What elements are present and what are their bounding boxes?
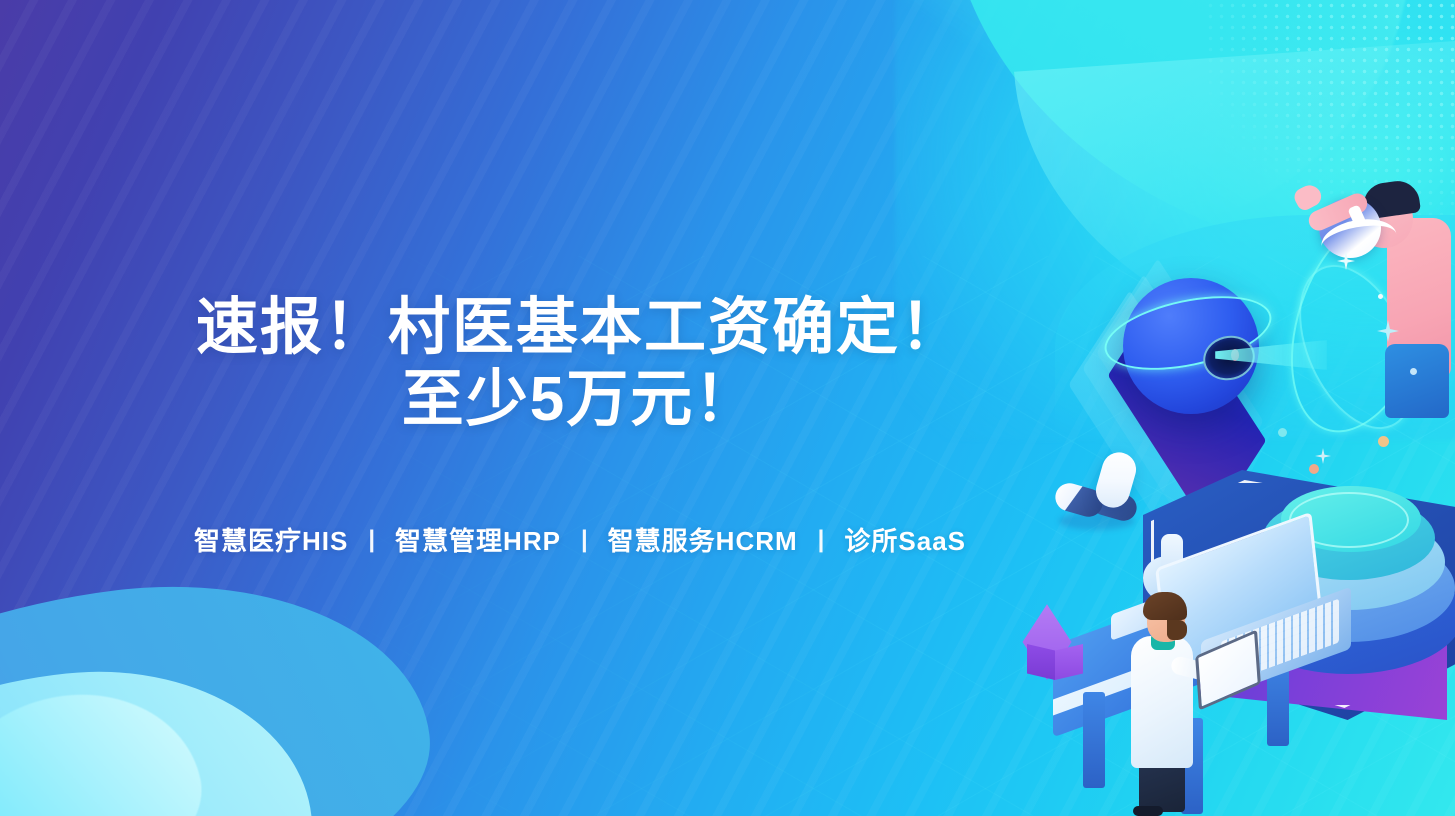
confetti-dot	[1278, 428, 1287, 437]
vr-person-shorts	[1385, 344, 1449, 418]
promo-banner: 速报！村医基本工资确定！ 至少5万元！ 智慧医疗HIS | 智慧管理HRP | …	[0, 0, 1455, 816]
sparkle-star-icon	[1337, 252, 1355, 270]
doctor-beard	[1167, 620, 1187, 640]
headline-block: 速报！村医基本工资确定！ 至少5万元！	[0, 292, 1160, 436]
confetti-dot	[1309, 464, 1319, 474]
doctor-hair	[1143, 592, 1187, 620]
product-item-hcrm[interactable]: 智慧服务HCRM	[608, 521, 798, 558]
sparkle-star-icon	[1315, 448, 1331, 464]
doctor-legs	[1139, 762, 1185, 812]
product-separator: |	[561, 526, 608, 554]
product-item-saas[interactable]: 诊所SaaS	[844, 521, 966, 558]
doctor-lab-coat	[1131, 636, 1193, 768]
product-item-hrp[interactable]: 智慧管理HRP	[395, 521, 561, 558]
product-separator: |	[798, 526, 845, 554]
sparkle-star-icon	[1377, 320, 1399, 342]
product-separator: |	[348, 526, 395, 554]
confetti-dot	[1410, 368, 1417, 375]
confetti-dot	[1378, 294, 1383, 299]
purple-cube-icon	[1025, 620, 1087, 686]
confetti-dot	[1378, 436, 1389, 447]
doctor-figure-group	[1113, 580, 1223, 816]
headline-line-2: 至少5万元！	[0, 364, 1160, 436]
product-list: 智慧医疗HIS | 智慧管理HRP | 智慧服务HCRM | 诊所SaaS	[0, 521, 1160, 558]
product-item-his[interactable]: 智慧医疗HIS	[194, 521, 348, 558]
doctor-shoe	[1133, 806, 1163, 816]
vr-person-group	[1311, 168, 1455, 418]
headline-line-1: 速报！村医基本工资确定！	[0, 292, 1160, 364]
desk-leg	[1083, 692, 1105, 788]
